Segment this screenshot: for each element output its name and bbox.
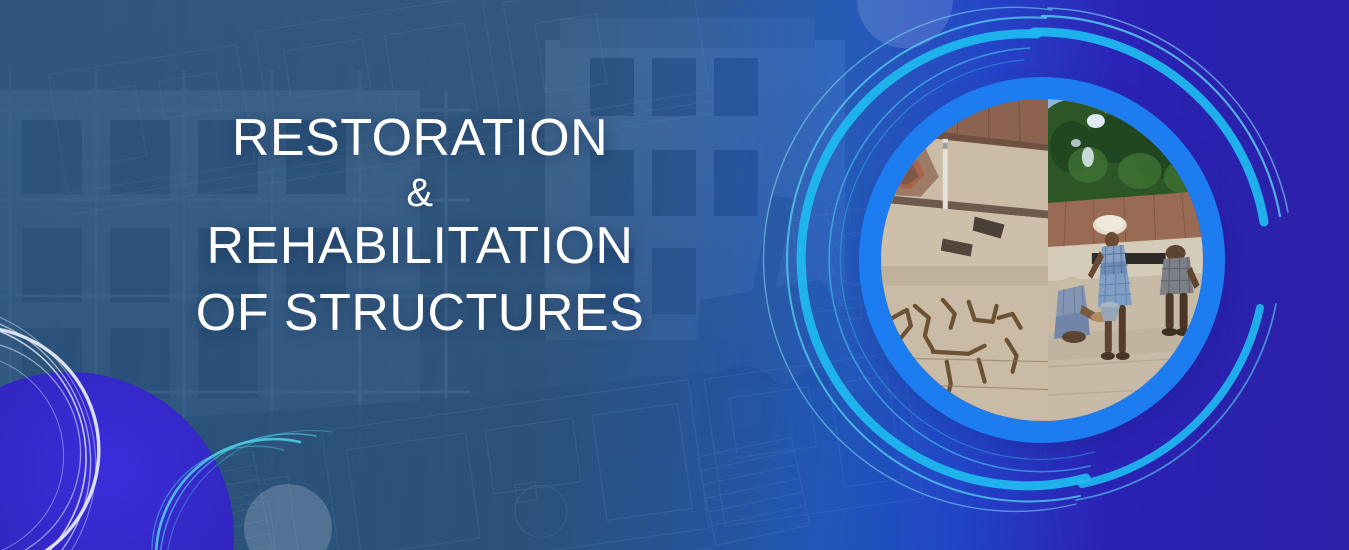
headline-line-of-structures: OF STRUCTURES [0, 287, 840, 340]
headline-line-rehabilitation: REHABILITATION [0, 220, 840, 273]
headline-line-restoration: RESTORATION [0, 112, 840, 165]
photo-panel-damaged-plaster-wall [881, 99, 1048, 266]
page-title: RESTORATION & REHABILITATION OF STRUCTUR… [0, 112, 840, 340]
photo-panel-workers-repairing-roof [1048, 99, 1203, 421]
restoration-works-photo-collage [881, 99, 1203, 421]
restoration-banner: RESTORATION & REHABILITATION OF STRUCTUR… [0, 0, 1349, 550]
photo-panel-cracked-floor-grouting [881, 266, 1048, 421]
cyan-arc-cluster [150, 430, 390, 550]
headline-ampersand: & [0, 173, 840, 214]
